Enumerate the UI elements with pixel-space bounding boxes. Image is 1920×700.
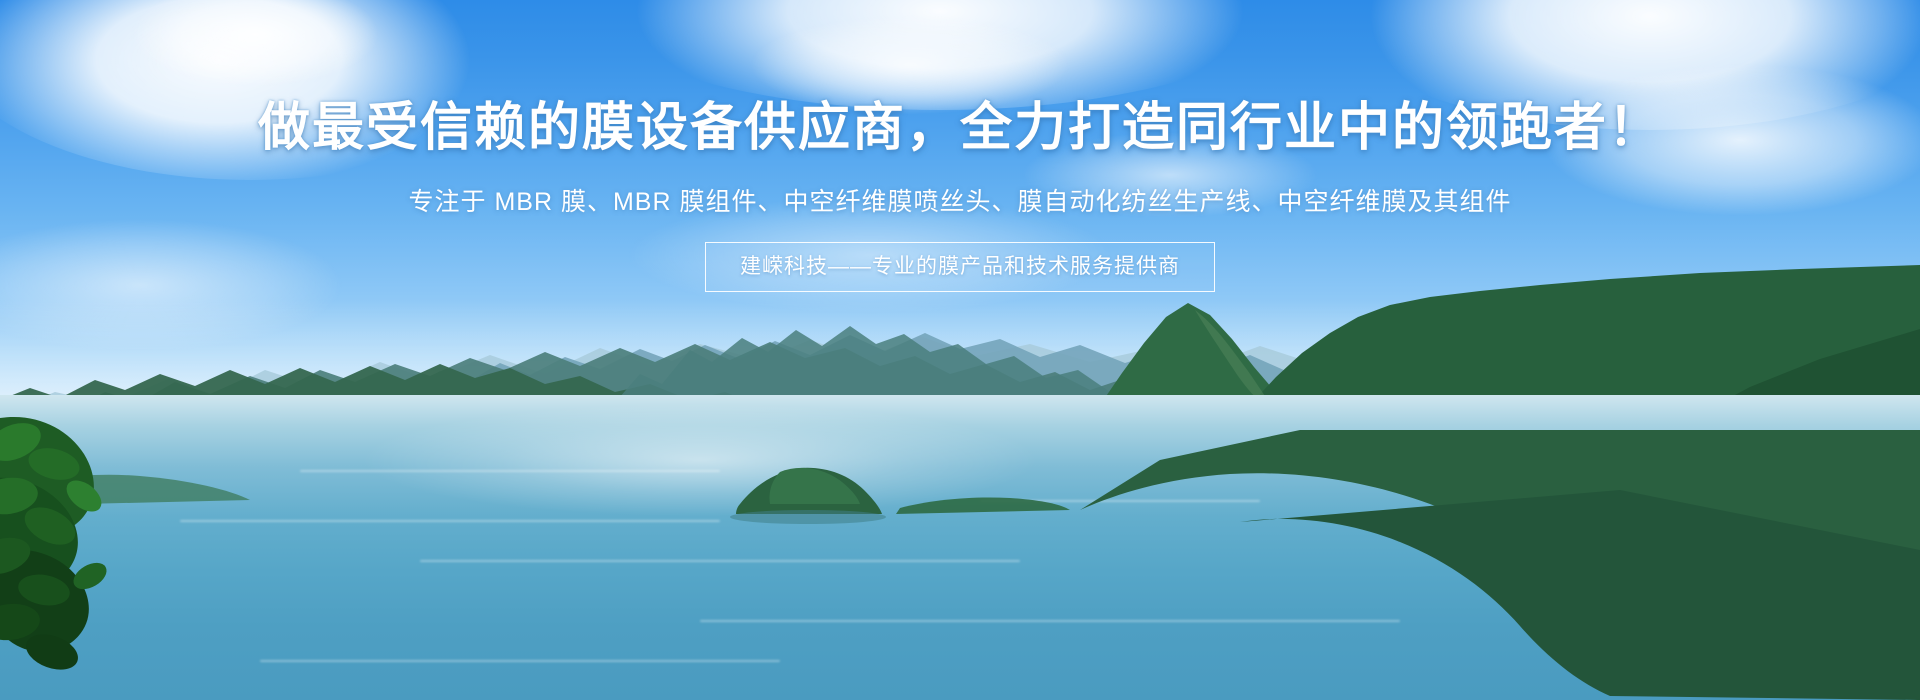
right-shore-forest	[0, 430, 1920, 700]
foreground-foliage-left	[0, 400, 220, 700]
cloud-top-mid-2-icon	[700, 0, 1120, 130]
tagline-box[interactable]: 建嵘科技——专业的膜产品和技术服务提供商	[705, 242, 1215, 292]
hero-banner: 做最受信赖的膜设备供应商，全力打造同行业中的领跑者！ 专注于 MBR 膜、MBR…	[0, 0, 1920, 700]
cloud-mid-low-2-icon	[980, 120, 1360, 230]
